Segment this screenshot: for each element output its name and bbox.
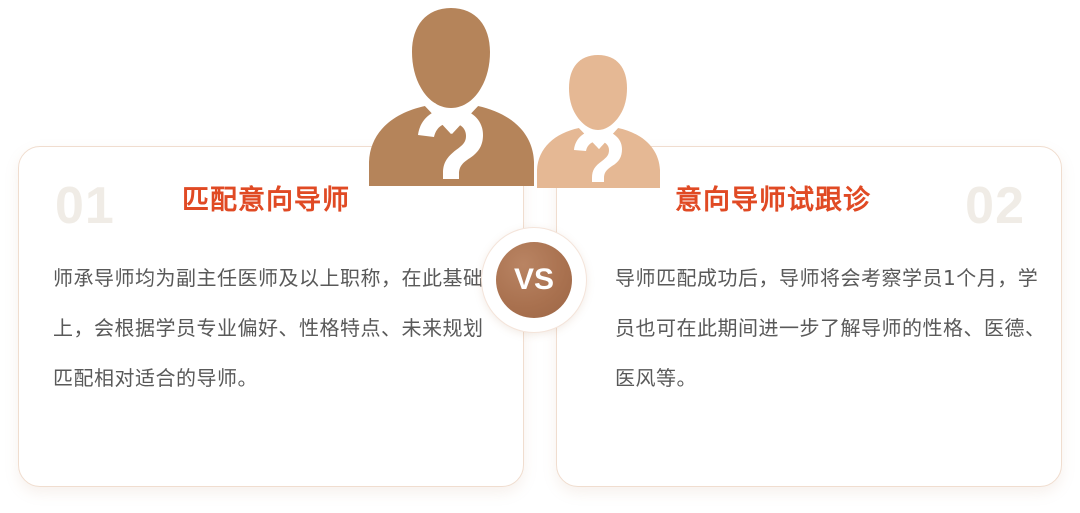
step-card-01: 01 匹配意向导师 师承导师均为副主任医师及以上职称，在此基础上，会根据学员专业… [18,146,524,487]
vs-badge-label: VS [514,265,554,295]
card-header-02: 02 意向导师试跟诊 [557,175,1061,247]
step-body-01: 师承导师均为副主任医师及以上职称，在此基础上，会根据学员专业偏好、性格特点、未来… [53,253,485,403]
step-number-02: 02 [965,175,1025,237]
step-card-02: 02 意向导师试跟诊 导师匹配成功后，导师将会考察学员1个月，学员也可在此期间进… [556,146,1062,487]
vs-badge-circle: VS [496,242,572,318]
card-header-01: 01 匹配意向导师 [19,175,523,247]
vs-badge: VS [482,228,586,332]
step-title-01: 匹配意向导师 [182,181,350,221]
step-number-01: 01 [55,175,115,237]
step-body-02: 导师匹配成功后，导师将会考察学员1个月，学员也可在此期间进一步了解导师的性格、医… [615,253,1047,403]
step-title-02: 意向导师试跟诊 [675,181,871,221]
comparison-infographic: 01 匹配意向导师 师承导师均为副主任医师及以上职称，在此基础上，会根据学员专业… [0,0,1080,513]
